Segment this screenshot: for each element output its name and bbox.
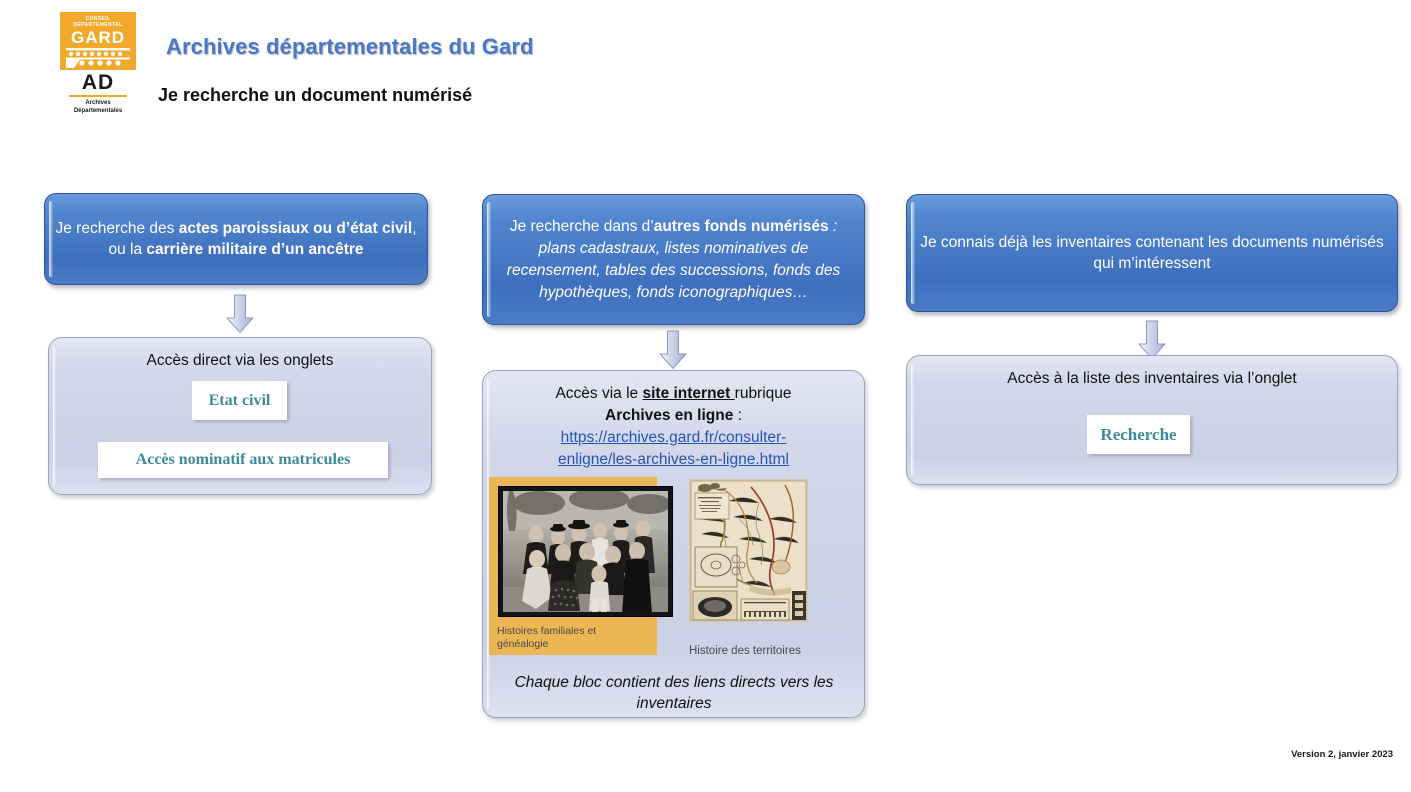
- family-photo-image: [498, 486, 673, 617]
- tab-recherche-label: Recherche: [1100, 425, 1176, 445]
- slide-canvas: CONSEIL DÉPARTEMENTAL GARD AD Archives: [0, 0, 1411, 792]
- answer-right-heading: Accès à la liste des inventaires via l’o…: [907, 356, 1397, 389]
- thematic-blocks: Histoires familiales et généalogie: [489, 477, 849, 667]
- family-photo-inner: [503, 491, 668, 612]
- tab-acces-nominatif-matricules-label: Accès nominatif aux matricules: [136, 451, 351, 469]
- question-left-bold2: carrière militaire d’un ancêtre: [146, 241, 363, 258]
- version-label: Version 2, janvier 2023: [1291, 749, 1393, 760]
- down-arrow-right: [1137, 320, 1167, 360]
- answer-middle-site-internet[interactable]: site internet: [642, 385, 734, 402]
- logo-sub-line1: Archives: [85, 99, 110, 107]
- site-title: Archives départementales du Gard: [166, 34, 534, 60]
- logo-sub-line2: Départementales: [74, 107, 122, 115]
- question-left-prefix: Je recherche des: [56, 220, 179, 237]
- question-middle-bold1: autres fonds numérisés: [654, 218, 829, 235]
- down-arrow-left: [225, 294, 255, 334]
- family-photo-illustration: [503, 491, 668, 612]
- logo-divider: [69, 95, 127, 97]
- question-left-text: Je recherche des actes paroissiaux ou d’…: [45, 218, 427, 260]
- histoire-des-territoires-caption: Histoire des territoires: [689, 645, 849, 657]
- answer-middle-line1-c: rubrique: [735, 385, 792, 402]
- middle-bottom-note: Chaque bloc contient des liens directs v…: [494, 672, 854, 714]
- logo-archives-departementales-gard: CONSEIL DÉPARTEMENTAL GARD AD Archives: [60, 12, 136, 124]
- old-map-illustration: [689, 479, 808, 622]
- answer-left-heading: Accès direct via les onglets: [49, 338, 431, 371]
- answer-middle-archives-en-ligne: Archives en ligne: [605, 407, 733, 424]
- question-middle-prefix: Je recherche dans d’: [510, 218, 654, 235]
- histoires-familiales-caption: Histoires familiales et généalogie: [497, 625, 647, 651]
- question-right-text: Je connais déjà les inventaires contenan…: [907, 232, 1397, 274]
- down-arrow-middle: [658, 330, 688, 370]
- tab-etat-civil-label: Etat civil: [209, 392, 271, 410]
- answer-middle-colon: :: [733, 407, 742, 424]
- logo-gard-word: GARD: [71, 29, 125, 47]
- tab-etat-civil[interactable]: Etat civil: [192, 381, 287, 420]
- tab-acces-nominatif-matricules[interactable]: Accès nominatif aux matricules: [98, 442, 388, 478]
- pont-du-gard-icon: [66, 46, 130, 68]
- question-box-middle: Je recherche dans d’autres fonds numéris…: [482, 194, 865, 325]
- answer-middle-heading: Accès via le site internet rubrique Arch…: [483, 371, 864, 471]
- page-title: Je recherche un document numérisé: [158, 85, 472, 106]
- logo-ad-block: AD Archives Départementales: [60, 70, 136, 124]
- question-left-bold1: actes paroissiaux ou d’état civil: [179, 220, 412, 237]
- logo-ad-word: AD: [82, 72, 114, 94]
- tab-recherche[interactable]: Recherche: [1087, 415, 1190, 454]
- logo-gard-block: CONSEIL DÉPARTEMENTAL GARD: [60, 12, 136, 70]
- histoire-des-territoires-block[interactable]: [689, 479, 808, 622]
- question-box-left: Je recherche des actes paroissiaux ou d’…: [44, 193, 428, 285]
- question-box-right: Je connais déjà les inventaires contenan…: [906, 194, 1398, 312]
- answer-middle-line1-a: Accès via le: [555, 385, 642, 402]
- archives-en-ligne-url[interactable]: https://archives.gard.fr/consulter-enlig…: [524, 427, 824, 471]
- question-middle-text: Je recherche dans d’autres fonds numéris…: [483, 216, 864, 304]
